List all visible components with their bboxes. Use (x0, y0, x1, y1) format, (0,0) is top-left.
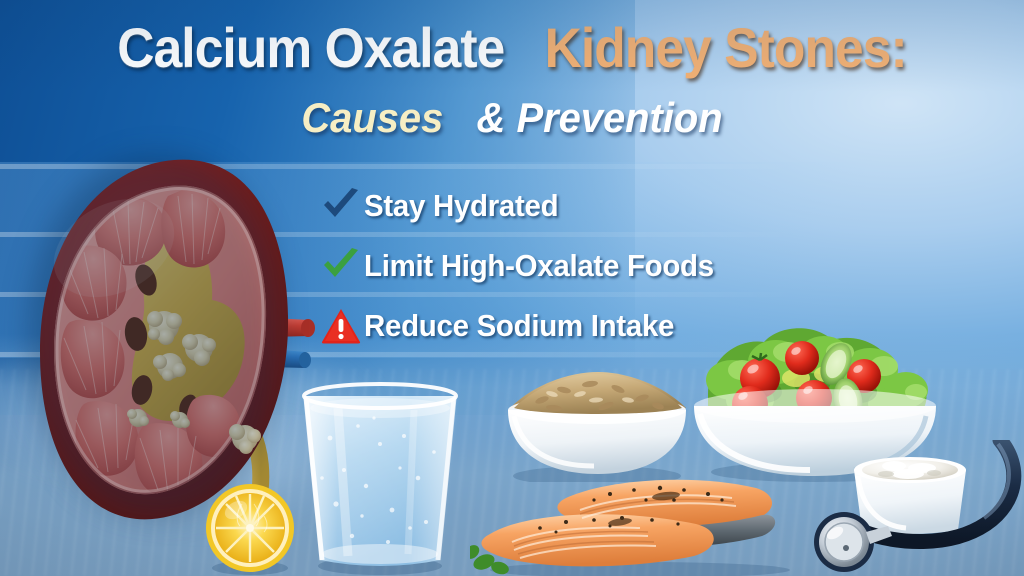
vignette-overlay (0, 0, 1024, 576)
infographic-poster: Calcium Oxalate Kidney Stones: Causes & … (0, 0, 1024, 576)
